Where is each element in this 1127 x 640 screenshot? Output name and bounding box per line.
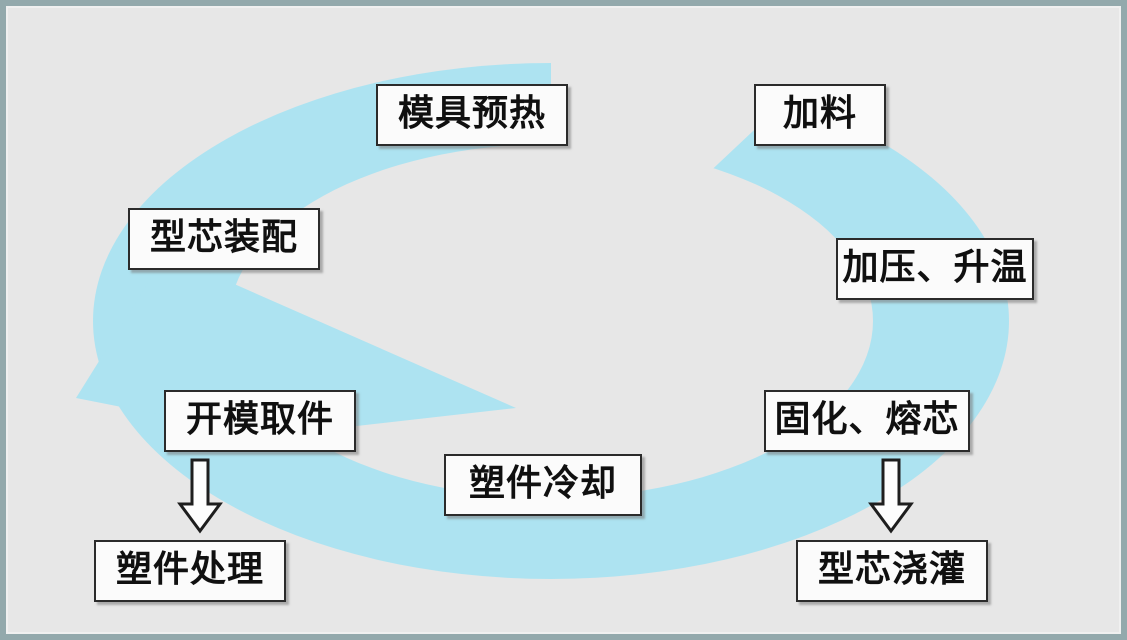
node-open-mold-label: 开模取件	[186, 401, 334, 439]
node-core-pouring[interactable]: 型芯浇灌	[796, 540, 988, 602]
node-cooling-label: 塑件冷却	[469, 465, 617, 503]
node-press-heat-label: 加压、升温	[843, 249, 1028, 287]
node-open-mold[interactable]: 开模取件	[164, 390, 356, 452]
node-core-assembly-label: 型芯装配	[150, 219, 298, 257]
node-cooling[interactable]: 塑件冷却	[444, 454, 642, 516]
node-cure-melt-label: 固化、熔芯	[775, 401, 960, 439]
node-feeding-label: 加料	[783, 95, 857, 133]
node-feeding[interactable]: 加料	[754, 84, 886, 146]
node-part-treatment-label: 塑件处理	[116, 551, 264, 589]
node-preheat[interactable]: 模具预热	[376, 84, 568, 146]
node-preheat-label: 模具预热	[398, 95, 546, 133]
node-part-treatment[interactable]: 塑件处理	[94, 540, 286, 602]
node-core-assembly[interactable]: 型芯装配	[128, 208, 320, 270]
node-press-heat[interactable]: 加压、升温	[836, 238, 1034, 300]
diagram-canvas: 模具预热 加料 加压、升温 固化、熔芯 塑件冷却 开模取件 型芯装配 塑件处理 …	[0, 0, 1127, 640]
down-arrow-icon	[868, 458, 914, 534]
node-core-pouring-label: 型芯浇灌	[818, 551, 966, 589]
node-cure-melt[interactable]: 固化、熔芯	[764, 390, 970, 452]
down-arrow-icon	[177, 458, 223, 534]
